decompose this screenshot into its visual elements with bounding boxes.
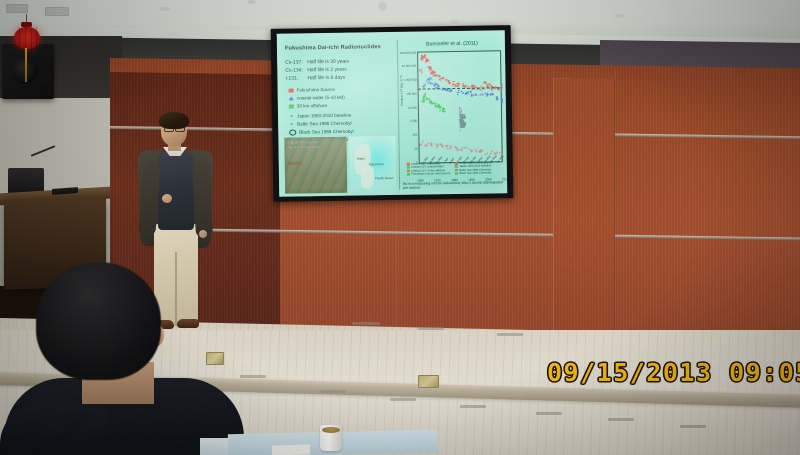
chart-data-point: [491, 150, 493, 152]
chart-data-point: [457, 93, 459, 95]
photo-label: Fukushima Dai-ichi: [287, 140, 318, 144]
chart-data-point: [474, 85, 476, 87]
chart-data-point: [421, 100, 423, 102]
map-label: Pacific Ocean: [375, 176, 394, 180]
chart-data-point: [442, 77, 444, 79]
cup-liquid: [322, 427, 340, 433]
camera-timestamp: 09/15/2013 09:05: [547, 358, 800, 387]
legend-marker-icon: [455, 162, 458, 165]
halflife-text: Half life is 8 days: [307, 75, 345, 82]
photo-label: Nuclear Power Plant: [287, 145, 320, 150]
chart-data-point: [451, 90, 453, 92]
slide-legend-item: Black Sea 1986 Chernobyl: [289, 128, 401, 136]
chart-data-point: [490, 94, 492, 96]
audience-hair: [36, 262, 161, 380]
floor-seam: [608, 418, 634, 421]
green-square-marker-icon: [289, 104, 294, 108]
photo-label-units: Unit 1-4: [289, 161, 302, 165]
slide-legend-item: coastal water (5-10 kM): [289, 94, 401, 101]
ceiling-light-icon: [247, 0, 256, 4]
audience-member: [10, 262, 250, 455]
chart-data-point: [459, 108, 461, 110]
chart-data-point: [422, 97, 424, 99]
slide-caption: Bq is a measuring unit for radioactivity…: [403, 180, 505, 190]
chart-data-point: [501, 87, 503, 89]
ceiling-light-icon: [615, 14, 624, 18]
chart-plot-area: [417, 50, 503, 163]
ceiling-light-icon: [168, 32, 177, 36]
chart-data-point: [427, 66, 429, 68]
chart-y-tick-label: 1 000 000: [404, 78, 417, 82]
chart-data-point: [458, 83, 460, 85]
legend-marker-icon: [407, 173, 410, 176]
chart-data-point: [466, 92, 468, 94]
chart-data-point: [480, 150, 482, 152]
floor-seam: [352, 322, 380, 325]
chart-data-point: [461, 149, 463, 151]
chart-data-point: [435, 143, 437, 145]
ceiling-speaker: [2, 44, 54, 99]
slide-halflife-row: Cs-137:Half life is 30 years: [285, 58, 397, 66]
chart-y-tick-label: 100 000: [406, 91, 417, 95]
chart-title: Buesseler et al. (2011): [403, 40, 501, 48]
chart-data-point: [423, 56, 425, 58]
wall-panel-door[interactable]: [553, 78, 615, 341]
chart-data-point: [421, 71, 423, 73]
chart-data-point: [482, 94, 484, 96]
chart-data-point: [444, 108, 446, 110]
isotope-label: I-131:: [285, 75, 307, 81]
chart-data-point: [475, 151, 477, 153]
glasses-icon: [175, 125, 185, 132]
legend-marker-icon: [455, 165, 458, 168]
legend-marker-icon: [455, 172, 458, 175]
chart-data-point: [454, 86, 456, 88]
chart-bottom-legend: Cesium-137: FukushimaCesium-137: Coastal…: [407, 161, 503, 177]
legend-label: Black Sea 1986 Chernobyl: [299, 129, 353, 135]
chart-data-point: [420, 58, 422, 60]
ceiling-vent-icon: [6, 4, 28, 13]
halflife-text: Half life is 30 years: [307, 59, 349, 66]
chart-y-tick-label: 100 000 000: [400, 50, 416, 54]
chart-data-point: [425, 61, 427, 63]
map-landmass: [361, 166, 374, 188]
slide-legend-item: Fukushima Source: [289, 86, 401, 93]
chart-data-point: [459, 130, 461, 132]
chart-data-point: [433, 102, 435, 104]
chart-data-point: [434, 71, 436, 73]
lantern-cap: [21, 22, 32, 27]
floor-seam: [680, 425, 706, 428]
halflife-text: Half life is 2 years: [307, 67, 347, 74]
map-label: Fukushima: [369, 162, 384, 166]
floor-seam: [460, 405, 486, 408]
ceiling-vent-icon: [45, 7, 69, 16]
legend-marker-icon: [455, 169, 458, 172]
chart-y-tick-label: 10 000: [408, 105, 417, 109]
chart-data-point: [436, 146, 438, 148]
chart-data-point: [457, 149, 459, 151]
presenter-hand-right: [199, 230, 207, 238]
chart-data-point: [453, 81, 455, 83]
legend-label: 30 km offshore: [297, 103, 327, 108]
chart-data-point: [448, 80, 450, 82]
chart-data-point: [470, 151, 472, 153]
chart-data-point: [437, 144, 439, 146]
floor-seam: [418, 327, 444, 330]
legend-label: coastal water (5-10 kM): [297, 95, 345, 101]
chart-data-point: [460, 110, 462, 112]
chart-legend-entry: Fukushima Source: near Dai-ichi: [407, 172, 451, 176]
chart-data-point: [440, 80, 442, 82]
chart-y-tick-label: 100: [412, 133, 417, 137]
red-lantern-icon: [14, 27, 40, 49]
chart-data-point: [476, 148, 478, 150]
blue-triangle-marker-icon: [289, 96, 294, 100]
presenter-hand-left: [162, 194, 172, 203]
slide-title: Fukushima Dai-ichi Radionuclides: [285, 44, 391, 52]
legend-label: Japan 1960-2010 baseline: [297, 113, 351, 119]
isotope-label: Cs-137:: [285, 59, 307, 65]
slide-legend-item: +Baltic Sea 1986 Chernobyl: [289, 120, 401, 127]
legend-label: Baltic Sea 1986 Chernobyl: [297, 121, 351, 127]
ceiling-light-icon: [160, 7, 170, 11]
chart-data-point: [467, 93, 469, 95]
plus-marker-icon: +: [289, 122, 294, 126]
floor-seam: [320, 390, 346, 393]
japan-plume-map: Japan Pacific Ocean Fukushima: [348, 136, 396, 193]
projection-screen: Fukushima Dai-ichi Radionuclides Cs-137:…: [271, 25, 514, 202]
plus-marker-icon: +: [289, 114, 294, 118]
photograph-lecture-hall: Fukushima Dai-ichi Radionuclides Cs-137:…: [0, 0, 800, 455]
chart-legend-entry: Black Sea 1986 Chernobyl: [455, 172, 491, 176]
chart-data-point: [425, 80, 427, 82]
chart-data-point: [445, 80, 447, 82]
chart-data-point: [492, 94, 494, 96]
chart-data-point: [464, 85, 466, 87]
chart-y-tick-label: 10 000 000: [402, 64, 417, 68]
chart-data-point: [429, 68, 431, 70]
chart-data-point: [430, 82, 432, 84]
slide-halflife-row: Cs-134:Half life is 2 years: [285, 66, 397, 74]
slide-legend-item: +Japan 1960-2010 baseline: [289, 112, 401, 119]
chart-y-tick-label: 10: [414, 146, 417, 150]
presentation-slide: Fukushima Dai-ichi Radionuclides Cs-137:…: [277, 30, 508, 197]
chart-y-ticks: 100 000 00010 000 0001 000 000100 00010 …: [403, 52, 418, 162]
chart-data-point: [439, 107, 441, 109]
nuclear-plant-aerial-photo: Fukushima Dai-ichi Nuclear Power Plant U…: [284, 137, 347, 194]
chart-data-point: [423, 99, 425, 101]
slide-halflife-row: I-131:Half life is 8 days: [285, 74, 397, 82]
chart-data-point: [428, 78, 430, 80]
slide-legend-item: 30 km offshore: [289, 102, 401, 109]
chart-data-point: [466, 147, 468, 149]
legend-marker-icon: [407, 170, 410, 173]
chart-data-point: [447, 90, 449, 92]
ceiling-light-icon: [450, 20, 459, 24]
chart-data-point: [486, 95, 488, 97]
chart-data-point: [456, 147, 458, 149]
open-circle-marker-icon: [289, 130, 296, 136]
paper-cup: [320, 425, 342, 451]
chart-data-point: [467, 91, 469, 93]
legend-marker-icon: [407, 166, 410, 169]
map-label: Japan: [357, 156, 365, 160]
legend-label: Fukushima Source: [297, 87, 335, 93]
chart-data-point: [431, 145, 433, 147]
lantern-tassel: [25, 48, 27, 82]
chart-data-point: [440, 143, 442, 145]
chart-data-point: [444, 111, 446, 113]
chart-data-point: [501, 101, 503, 103]
chart-data-point: [480, 89, 482, 91]
chart-y-tick-label: 1 000: [410, 119, 417, 123]
chart-data-point: [461, 125, 465, 129]
presenter-sweater: [158, 152, 194, 230]
chart-data-point: [451, 85, 453, 87]
red-square-marker-icon: [289, 88, 294, 92]
floor-seam: [536, 412, 562, 415]
chart-data-point: [438, 75, 440, 77]
floor-seam: [497, 333, 523, 336]
chart-data-point: [462, 92, 464, 94]
legend-marker-icon: [407, 163, 410, 166]
chart-data-point: [470, 91, 472, 93]
chart-data-point: [459, 85, 461, 87]
floor-seam: [390, 398, 416, 401]
chart-data-point: [421, 144, 423, 146]
chart-data-point: [501, 100, 503, 102]
chart-data-point: [500, 85, 502, 87]
wall-seam-vertical: [615, 70, 617, 350]
paper-sheet: [272, 444, 310, 455]
chart-data-point: [491, 89, 493, 91]
glasses-icon: [164, 125, 174, 132]
isotope-label: Cs-134:: [285, 67, 307, 73]
chart-data-point: [442, 145, 444, 147]
chart-data-point: [436, 74, 438, 76]
chart-data-point: [431, 79, 433, 81]
chart-data-point: [447, 148, 449, 150]
chart-data-point: [421, 142, 423, 144]
floor-outlet-plate: [418, 375, 439, 388]
ceiling-light-icon: [378, 2, 387, 11]
chart-data-point: [439, 110, 441, 112]
chart-data-point: [427, 82, 429, 84]
chart-data-point: [496, 99, 498, 101]
audience-shoulder: [0, 404, 110, 455]
